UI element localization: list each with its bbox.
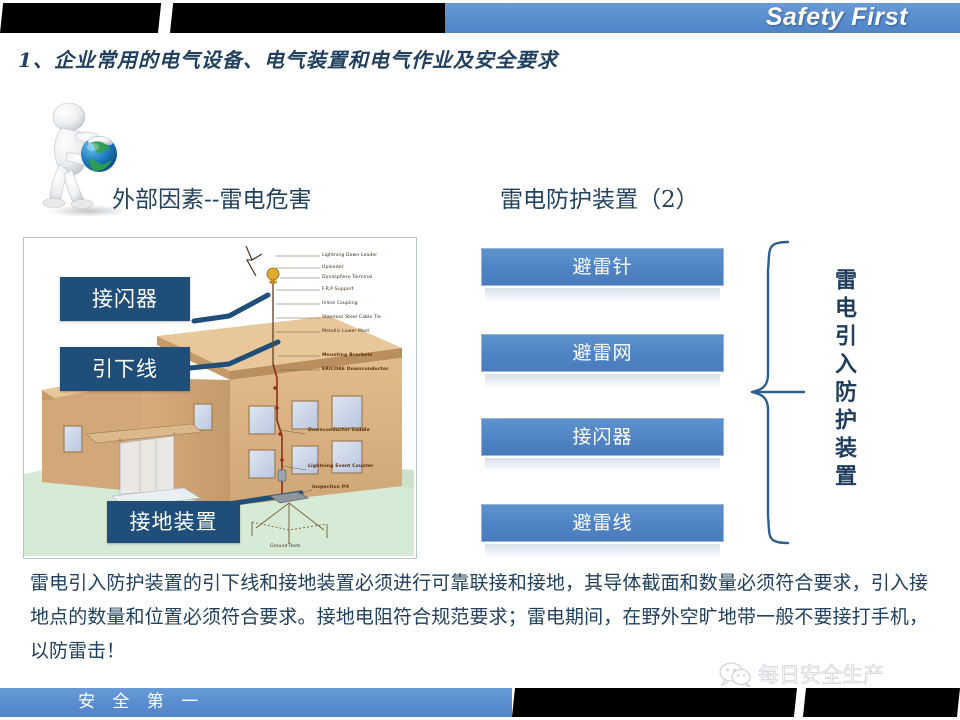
eng-label-inline-coupling: Inline Coupling [322,301,358,306]
pic-tag-air-terminal: 接闪器 [60,277,190,321]
device-bar-4[interactable]: 避雷线 [481,504,724,542]
device-bar-3[interactable]: 接闪器 [481,418,724,456]
curly-brace-icon [748,240,806,545]
header-black-segment-left [0,3,161,33]
eng-label-frp-support: F.R.P Support [322,287,354,292]
device-bar-label-4: 避雷线 [481,504,724,542]
pic-tag-down-conductor: 引下线 [60,347,190,391]
device-bar-reflection-1 [485,288,720,302]
watermark-text: 每日安全生产 [758,659,884,689]
subtitle-protection-devices: 雷电防护装置（2） [500,180,699,214]
eng-label-ericore-downconductor: ERICORE Downconductor [322,367,389,372]
device-bar-label-2: 避雷网 [481,334,724,372]
subtitle-external-factors: 外部因素--雷电危害 [112,180,312,214]
body-paragraph: 雷电引入防护装置的引下线和接地装置必须进行可靠联接和接地，其导体截面和数量必须符… [30,566,928,668]
wechat-icon [718,661,752,687]
device-bar-2[interactable]: 避雷网 [481,334,724,372]
slide-heading: 1、企业常用的电气设备、电气装置和电气作业及安全要求 [18,44,558,73]
eng-label-downconductor-saddle: Downconductor Saddle [308,428,370,433]
eng-label-mounting-brackets: Mounting Brackets [322,353,372,358]
footer-black-segment-right [803,688,960,717]
watermark: 每日安全生产 [718,657,946,691]
eng-label-dynasphere-terminal: Dynasphere Terminal [322,275,372,280]
eng-label-ground-rods: Ground Rods [270,544,301,549]
eng-label-metallic-lower-mast: Metallic Lower Mast [322,329,369,334]
eng-label-upleader: Upleader [322,265,344,270]
brand-title: Safety First [766,1,908,33]
footer-black-segment-mid [512,688,797,717]
device-bar-reflection-4 [485,544,720,558]
group-label-vertical: 雷电引入防护装置 [828,268,860,492]
header-black-segment-mid [170,3,455,33]
eng-label-lightning-down-leader: Lightning Down Leader [322,253,377,258]
bottom-footer-bar: 安 全 第 一 [0,688,960,720]
group-brace [748,240,806,545]
top-header-bar: Safety First [0,0,960,36]
footer-blue-segment [0,688,512,717]
eng-label-lightning-event-counter: Lightning Event Counter [308,464,374,469]
device-bar-label-3: 接闪器 [481,418,724,456]
lightning-protection-diagram: 接闪器 引下线 接地装置 Lightning Down Leader Uplea… [23,237,417,559]
device-bar-label-1: 避雷针 [481,248,724,286]
eng-label-stainless-cable-tie: Stainless Steel Cable Tie [322,315,381,320]
eng-label-inspection-pit: Inspection Pit [312,485,349,490]
device-bar-reflection-3 [485,458,720,472]
device-bar-reflection-2 [485,374,720,388]
footer-text: 安 全 第 一 [78,688,204,717]
device-bar-1[interactable]: 避雷针 [481,248,724,286]
pic-tag-earthing-device: 接地装置 [107,501,240,543]
